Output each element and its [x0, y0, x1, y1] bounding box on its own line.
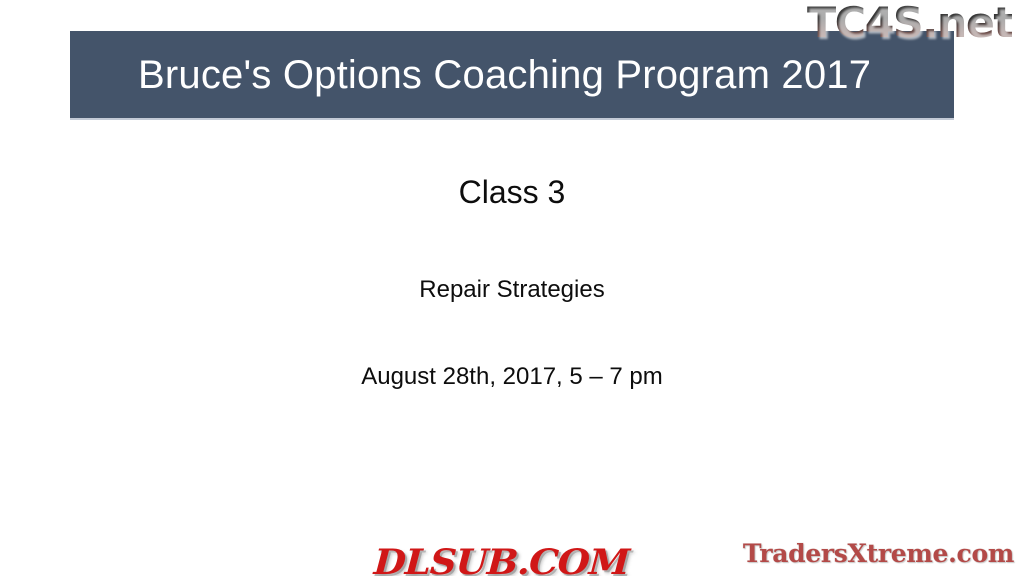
slide-title-banner: Bruce's Options Coaching Program 2017	[70, 31, 954, 118]
presentation-slide: Bruce's Options Coaching Program 2017 Cl…	[0, 0, 1024, 576]
subtitle-region: Repair Strategies DLSUB.COM	[0, 276, 1024, 316]
tradersxtreme-watermark: TradersXtreme.com	[743, 539, 1014, 568]
dlsub-watermark: DLSUB.COM	[373, 542, 630, 576]
date-time-label: August 28th, 2017, 5 – 7 pm	[0, 363, 1024, 391]
subtitle-label: Repair Strategies	[0, 276, 1024, 304]
class-label: Class 3	[0, 174, 1024, 211]
slide-title: Bruce's Options Coaching Program 2017	[138, 54, 871, 96]
